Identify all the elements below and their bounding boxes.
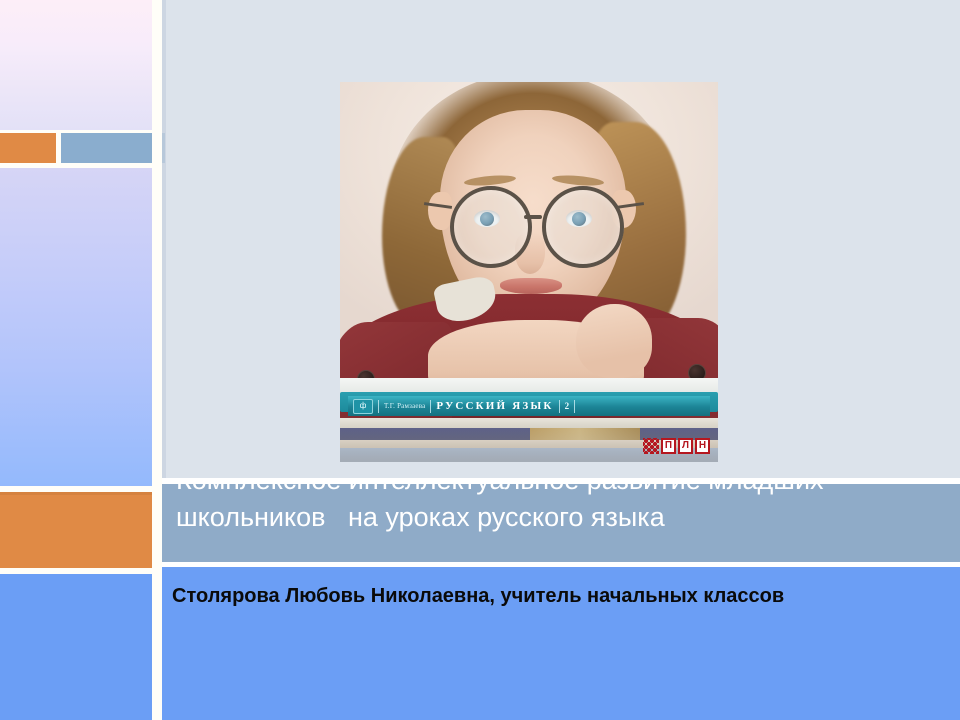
- rail-accent-steel-tab: [61, 133, 152, 163]
- rail-accent-orange-tab: [0, 133, 56, 163]
- watermark-letter-l: Л: [678, 438, 693, 454]
- photo-hand: [576, 304, 652, 378]
- rail-top-gradient-block: [0, 0, 152, 130]
- pln-watermark: П Л Н: [643, 438, 710, 454]
- photo-inner: ф Т.Г. Рамзаева РУССКИЙ ЯЗЫК 2 П: [340, 82, 718, 462]
- rail-gap-lower-accent: [0, 163, 152, 168]
- slide-title-band: Комплексное интеллектуальное развитие мл…: [162, 484, 960, 562]
- rail-orange-block: [0, 492, 152, 568]
- rail-gap-below-orange: [0, 568, 152, 574]
- slide-title: Комплексное интеллектуальное развитие мл…: [176, 484, 876, 536]
- book-spine-separator-2: [430, 400, 431, 413]
- watermark-letter-n: Н: [695, 438, 710, 454]
- slide-author: Столярова Любовь Николаевна, учитель нач…: [172, 581, 932, 611]
- photo-glasses-lens-left: [450, 186, 532, 268]
- book-author-label: Т.Г. Рамзаева: [384, 402, 425, 410]
- russian-language-textbook-spine: ф Т.Г. Рамзаева РУССКИЙ ЯЗЫК 2: [348, 396, 710, 416]
- book-spine-separator-3: [559, 400, 560, 413]
- presentation-slide: ф Т.Г. Рамзаева РУССКИЙ ЯЗЫК 2 П: [0, 0, 960, 720]
- book-number-label: 2: [565, 401, 570, 411]
- book-spine-separator-1: [378, 400, 379, 413]
- rail-gap-upper: [0, 130, 152, 133]
- photo-glasses-lens-right: [542, 186, 624, 268]
- watermark-dots-icon: [643, 438, 659, 454]
- photo-glasses-bridge: [524, 215, 542, 219]
- photo-ear-left: [428, 192, 452, 230]
- photo-mouth: [500, 278, 562, 294]
- book-spine-separator-4: [574, 400, 575, 413]
- book-title-label: РУССКИЙ ЯЗЫК: [436, 400, 553, 412]
- rail-accent-separator: [56, 133, 61, 163]
- book-publisher-badge: ф: [353, 399, 373, 414]
- rail-blue-block: [0, 574, 152, 720]
- rail-middle-gradient-block: [0, 168, 152, 488]
- slide-author-band: Столярова Любовь Николаевна, учитель нач…: [162, 567, 960, 720]
- decorative-left-rail: [0, 0, 152, 720]
- watermark-letter-p: П: [661, 438, 676, 454]
- content-left-edge: [162, 0, 166, 484]
- schoolgirl-with-books-photo: ф Т.Г. Рамзаева РУССКИЙ ЯЗЫК 2 П: [340, 82, 718, 462]
- rail-gap-above-orange: [0, 486, 152, 492]
- rail-content-divider: [152, 0, 162, 720]
